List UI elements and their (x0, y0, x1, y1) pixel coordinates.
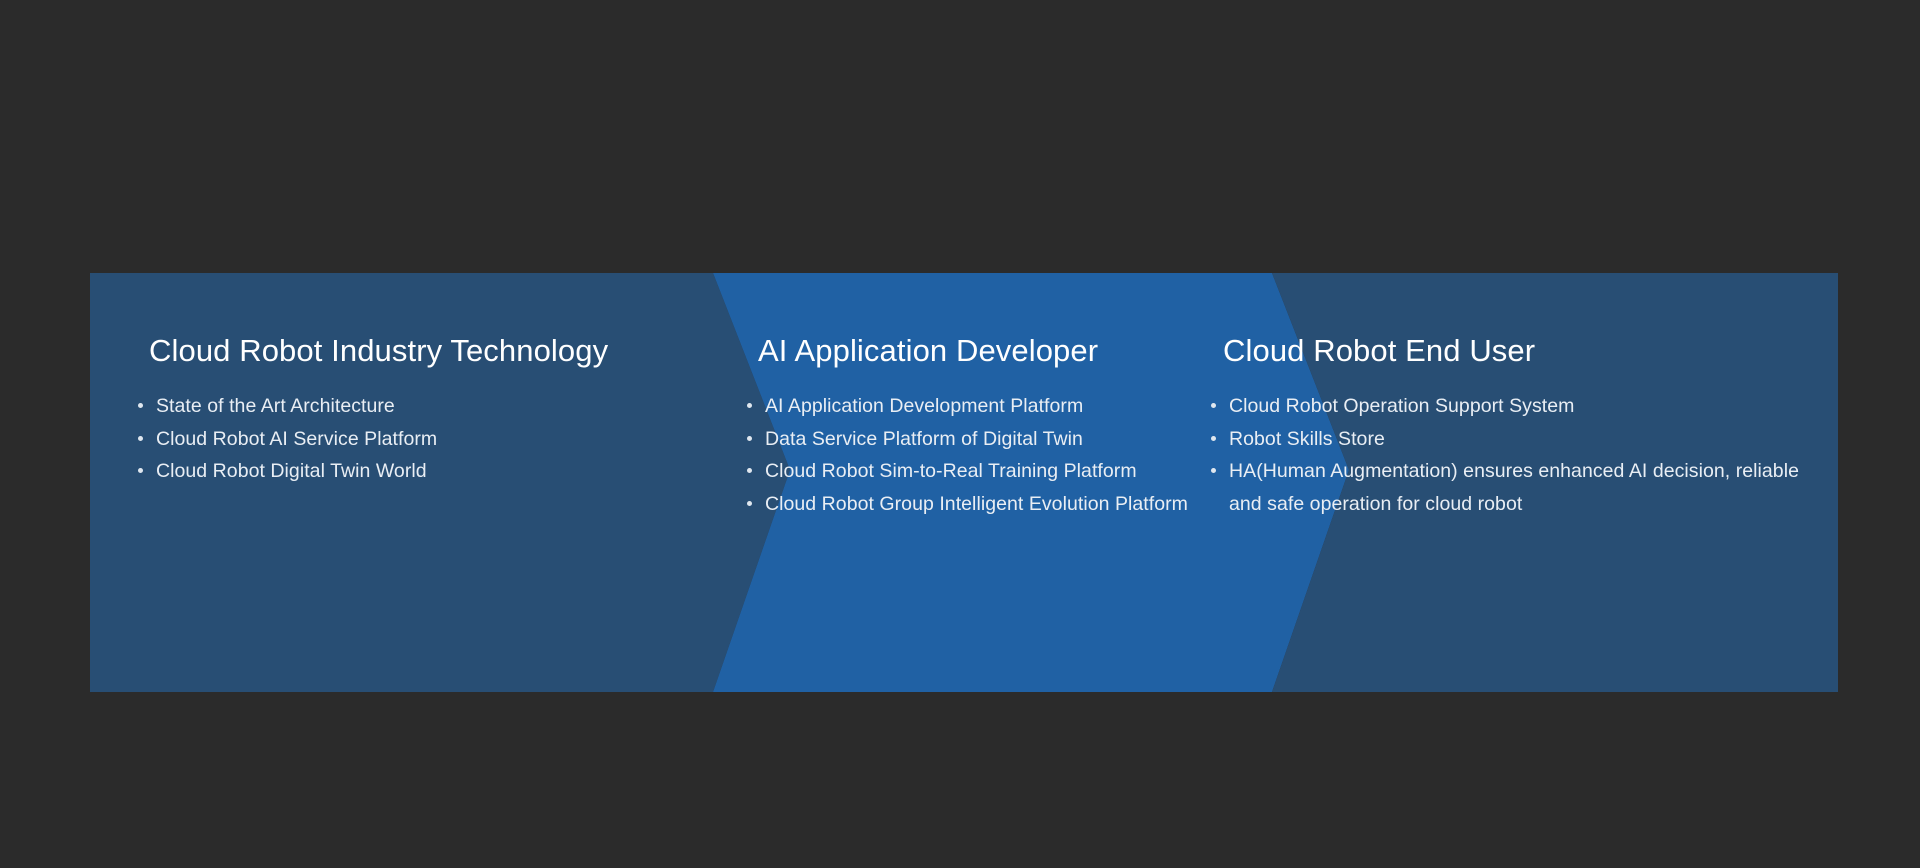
bullet-dot-icon (747, 436, 752, 441)
list-item-label: State of the Art Architecture (156, 390, 664, 423)
bullet-dot-icon (138, 468, 143, 473)
panel-cloud-robot-industry-technology: Cloud Robot Industry Technology State of… (90, 273, 690, 692)
bullet-dot-icon (747, 501, 752, 506)
panel-2-title: AI Application Developer (758, 335, 1098, 366)
list-item: Robot Skills Store (1207, 423, 1827, 456)
bullet-dot-icon (1211, 468, 1216, 473)
list-item-label: Robot Skills Store (1229, 423, 1827, 456)
panel-1-title: Cloud Robot Industry Technology (149, 335, 608, 366)
list-item: Cloud Robot Operation Support System (1207, 390, 1827, 423)
slide-canvas: Cloud Robot Industry Technology State of… (0, 0, 1920, 868)
panel-3-bullet-list: Cloud Robot Operation Support System Rob… (1207, 390, 1827, 520)
bullet-dot-icon (747, 468, 752, 473)
list-item: State of the Art Architecture (134, 390, 664, 423)
panel-3-title: Cloud Robot End User (1223, 335, 1535, 366)
bullet-dot-icon (1211, 436, 1216, 441)
panel-cloud-robot-end-user: Cloud Robot End User Cloud Robot Operati… (1115, 273, 1838, 692)
list-item-label: Cloud Robot Digital Twin World (156, 455, 664, 488)
list-item: HA(Human Augmentation) ensures enhanced … (1207, 455, 1827, 520)
bullet-dot-icon (138, 436, 143, 441)
list-item-label: Cloud Robot AI Service Platform (156, 423, 664, 456)
chevron-banner: Cloud Robot Industry Technology State of… (90, 273, 1838, 692)
panel-1-bullet-list: State of the Art Architecture Cloud Robo… (134, 390, 664, 488)
bullet-dot-icon (1211, 403, 1216, 408)
bullet-dot-icon (747, 403, 752, 408)
list-item-label: Cloud Robot Operation Support System (1229, 390, 1827, 423)
bullet-dot-icon (138, 403, 143, 408)
list-item-label: HA(Human Augmentation) ensures enhanced … (1229, 455, 1827, 520)
list-item: Cloud Robot AI Service Platform (134, 423, 664, 456)
list-item: Cloud Robot Digital Twin World (134, 455, 664, 488)
